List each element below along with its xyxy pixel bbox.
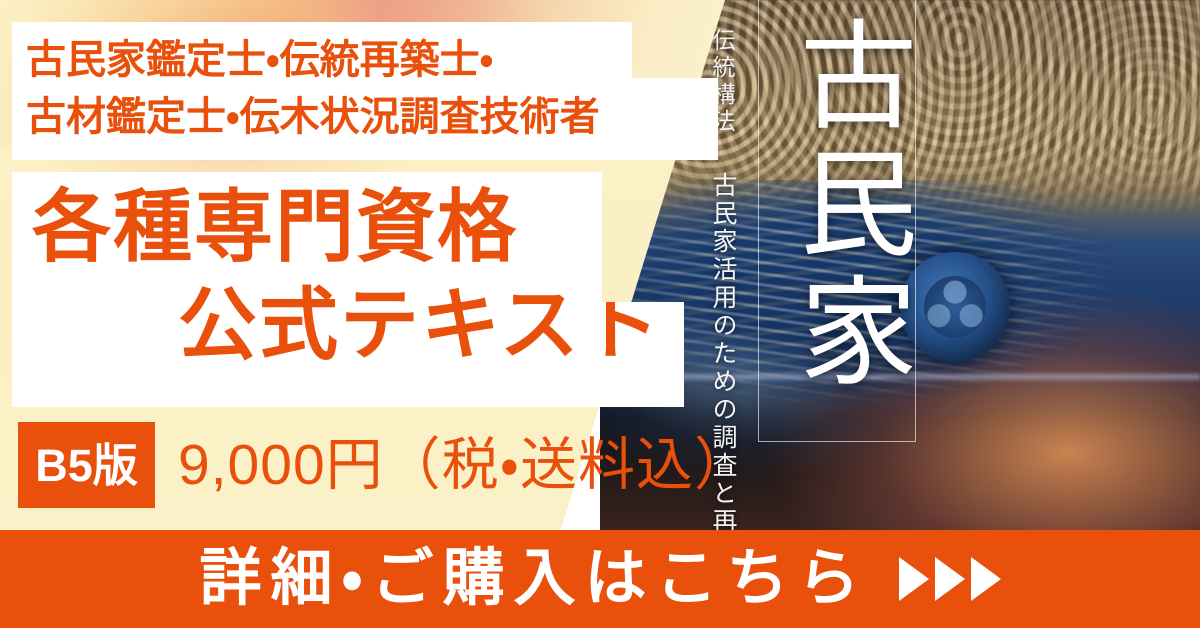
- book-title-vertical: 古民家: [760, 14, 912, 398]
- qualifications-card: 古民家鑑定士・伝統再築士・ 古材鑑定士・伝木状況調査技術者: [12, 22, 718, 160]
- headline-line-2: 公式テキスト: [178, 282, 662, 367]
- price-amount: 9,000円（税・送料込）: [178, 428, 752, 502]
- triangle-right-icon: [899, 557, 929, 601]
- cta-label: 詳細・ご購入はこちら: [199, 548, 868, 610]
- cta-content: 詳細・ご購入はこちら: [199, 548, 1000, 610]
- cta-arrow-group: [899, 557, 1001, 601]
- format-badge: B5版: [18, 422, 155, 508]
- format-badge-label: B5版: [35, 443, 138, 488]
- family-crest-medallion: [900, 252, 1010, 362]
- triangle-right-icon: [971, 557, 1001, 601]
- cta-bar[interactable]: 詳細・ご購入はこちら: [0, 530, 1200, 628]
- triangle-right-icon: [935, 557, 965, 601]
- qualifications-list: 古民家鑑定士・伝統再築士・ 古材鑑定士・伝木状況調査技術者: [26, 32, 726, 146]
- book-subtitle-main-vertical: 古民家活用のための調査と再生の: [704, 172, 740, 580]
- headline-line-1: 各種専門資格: [32, 184, 518, 269]
- headline-card: 各種専門資格 公式テキスト: [12, 172, 684, 407]
- promo-banner: 古民家 伝統構法 古民家活用のための調査と再生の 古民家鑑定士・伝統再築士・ 古…: [0, 0, 1200, 628]
